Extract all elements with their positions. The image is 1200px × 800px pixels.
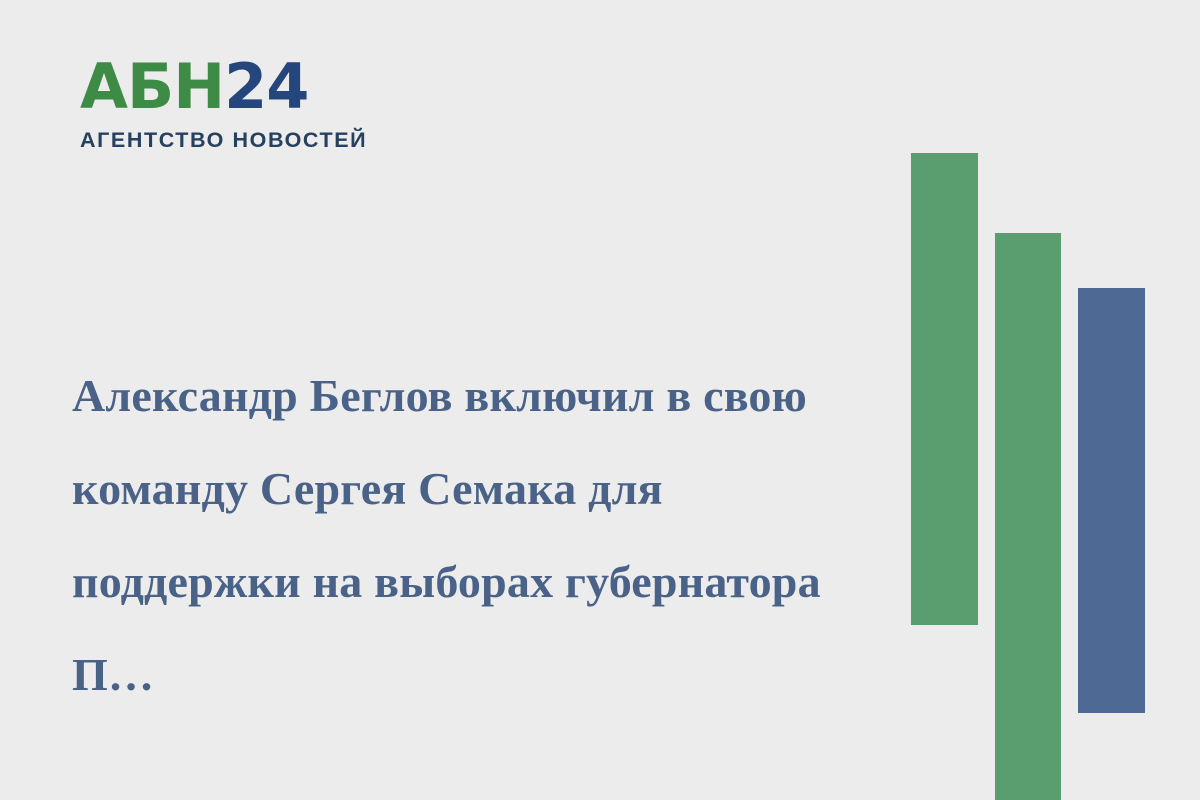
logo-wordmark-green: АБН xyxy=(80,50,224,123)
logo[interactable]: АБН24 АГЕНТСТВО НОВОСТЕЙ xyxy=(80,58,380,153)
news-card: АБН24 АГЕНТСТВО НОВОСТЕЙ Александр Бегло… xyxy=(0,0,1200,800)
bar-1 xyxy=(911,153,978,625)
bar-3 xyxy=(1078,288,1145,713)
logo-subtitle: АГЕНТСТВО НОВОСТЕЙ xyxy=(80,128,380,153)
logo-wordmark-navy: 24 xyxy=(224,50,308,123)
bar-2 xyxy=(995,233,1061,800)
headline: Александр Беглов включил в свою команду … xyxy=(72,349,872,721)
logo-wordmark: АБН24 xyxy=(80,58,380,124)
